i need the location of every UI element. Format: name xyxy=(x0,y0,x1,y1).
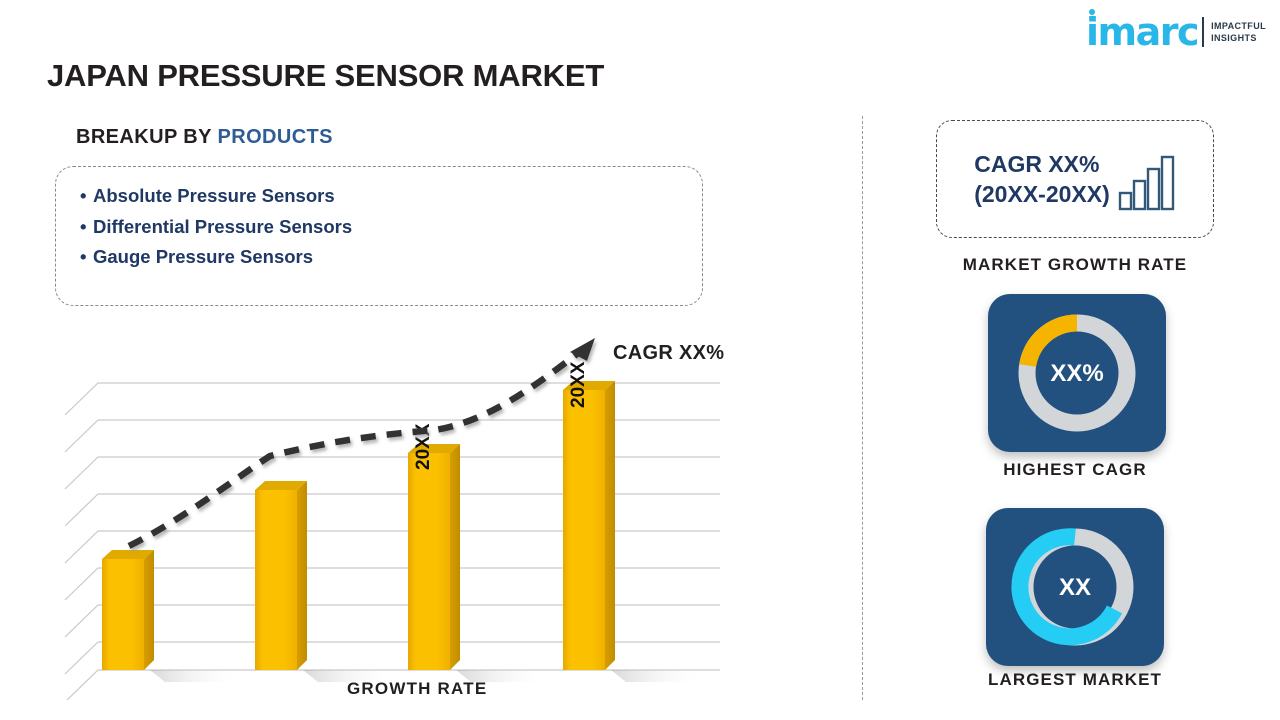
largest-market-card: XX xyxy=(986,508,1164,666)
logo-tagline: IMPACTFUL INSIGHTS xyxy=(1211,20,1266,44)
section-subtitle: BREAKUP BY PRODUCTS xyxy=(76,126,333,149)
chart-axis-caption: GROWTH RATE xyxy=(347,679,487,699)
market-growth-rate-card: CAGR XX% (20XX-20XX) xyxy=(936,120,1214,238)
chart-trend-line xyxy=(129,338,595,546)
logo-divider xyxy=(1202,17,1204,47)
caption-highest-cagr: HIGHEST CAGR xyxy=(936,460,1214,480)
trend-arrowhead-icon xyxy=(570,338,595,361)
logo-tagline-line1: IMPACTFUL xyxy=(1211,20,1266,32)
chart-svg: 20XX 20XX xyxy=(55,330,755,700)
bullet-icon: • xyxy=(80,212,93,243)
largest-market-donut-chart: XX xyxy=(1008,520,1142,654)
bullet-icon: • xyxy=(80,242,93,273)
list-item: •Absolute Pressure Sensors xyxy=(80,181,678,212)
cagr-value: CAGR XX% xyxy=(974,149,1110,179)
infographic-page: imarc IMPACTFUL INSIGHTS JAPAN PRESSURE … xyxy=(0,0,1280,720)
chart-cagr-label: CAGR XX% xyxy=(613,342,724,365)
bullet-icon: • xyxy=(80,181,93,212)
logo-wordmark-text: imarc xyxy=(1086,10,1198,54)
chart-bar: 20XX xyxy=(563,361,704,682)
products-list-box: •Absolute Pressure Sensors •Differential… xyxy=(55,166,703,306)
vertical-divider xyxy=(862,116,863,700)
bar-chart-ascending-icon xyxy=(1118,155,1176,211)
donut-value-label: XX% xyxy=(1050,360,1103,387)
page-title: JAPAN PRESSURE SENSOR MARKET xyxy=(47,58,604,94)
bar-value-label: 20XX xyxy=(568,361,589,408)
list-item-label: Differential Pressure Sensors xyxy=(93,216,352,237)
logo-dot-icon xyxy=(1089,9,1095,15)
donut-value-label: XX xyxy=(1059,574,1091,601)
list-item: •Differential Pressure Sensors xyxy=(80,212,678,243)
list-item: •Gauge Pressure Sensors xyxy=(80,242,678,273)
chart-bar: 20XX xyxy=(408,423,549,682)
logo-wordmark: imarc xyxy=(1086,13,1198,51)
chart-bar xyxy=(102,550,243,682)
cagr-period: (20XX-20XX) xyxy=(974,179,1110,209)
caption-market-growth-rate: MARKET GROWTH RATE xyxy=(936,255,1214,275)
subtitle-highlight: PRODUCTS xyxy=(217,126,332,148)
chart-bar xyxy=(255,481,396,682)
subtitle-prefix: BREAKUP BY xyxy=(76,126,212,148)
highest-cagr-card: XX% xyxy=(988,294,1166,452)
logo-tagline-line2: INSIGHTS xyxy=(1211,32,1266,44)
growth-rate-bar-chart: 20XX 20XX xyxy=(55,330,755,700)
caption-largest-market: LARGEST MARKET xyxy=(936,670,1214,690)
list-item-label: Gauge Pressure Sensors xyxy=(93,246,313,267)
list-item-label: Absolute Pressure Sensors xyxy=(93,185,335,206)
chart-gridlines xyxy=(65,383,720,700)
products-list: •Absolute Pressure Sensors •Differential… xyxy=(80,181,678,273)
highest-cagr-donut-chart: XX% xyxy=(1010,306,1144,440)
imarc-logo: imarc IMPACTFUL INSIGHTS xyxy=(1086,12,1266,52)
cagr-text-block: CAGR XX% (20XX-20XX) xyxy=(974,149,1110,209)
